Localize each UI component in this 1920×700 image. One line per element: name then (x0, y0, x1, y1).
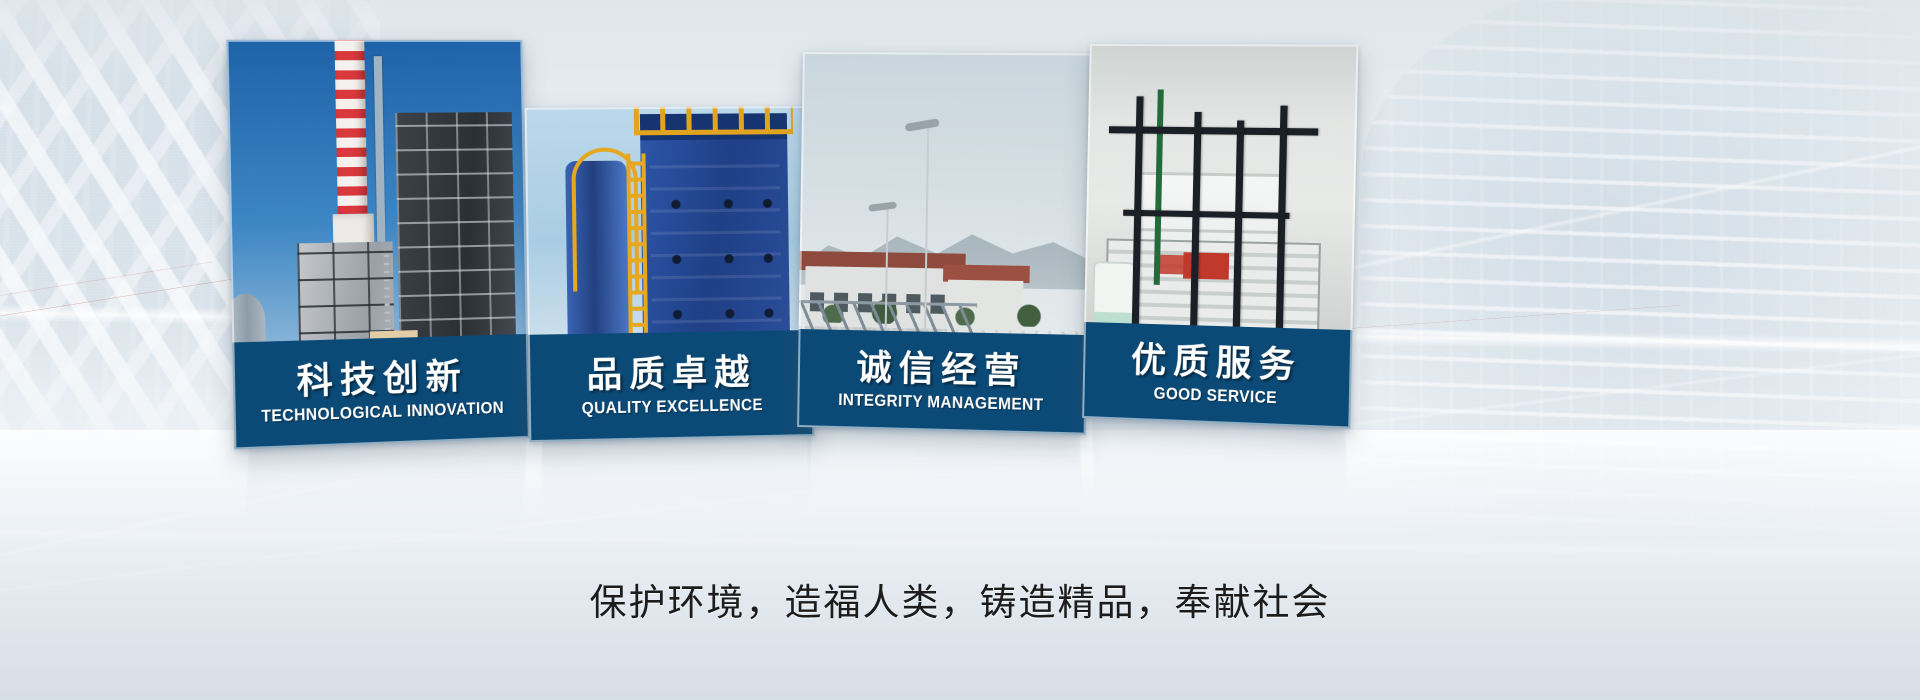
card-caption-2: 品质卓越 QUALITY EXCELLENCE (528, 330, 814, 442)
card-title-en-1: TECHNOLOGICAL INNOVATION (261, 399, 504, 427)
card-title-cn-2: 品质卓越 (586, 353, 756, 396)
value-card-technological-innovation[interactable]: 科技创新 TECHNOLOGICAL INNOVATION (226, 40, 529, 450)
value-card-quality-excellence[interactable]: 品质卓越 QUALITY EXCELLENCE (525, 106, 815, 442)
card-caption-1: 科技创新 TECHNOLOGICAL INNOVATION (232, 334, 530, 450)
card-title-cn-4: 优质服务 (1131, 340, 1303, 385)
value-card-good-service[interactable]: 优质服务 GOOD SERVICE (1082, 44, 1358, 429)
card-title-en-2: QUALITY EXCELLENCE (581, 396, 762, 419)
company-values-banner: 科技创新 TECHNOLOGICAL INNOVATION (0, 0, 1920, 700)
card-caption-4: 优质服务 GOOD SERVICE (1082, 322, 1352, 429)
banner-tagline: 保护环境，造福人类，铸造精品，奉献社会 (0, 572, 1920, 626)
card-title-cn-1: 科技创新 (296, 357, 468, 402)
card-title-en-4: GOOD SERVICE (1154, 385, 1278, 409)
card-caption-3: 诚信经营 INTEGRITY MANAGEMENT (797, 329, 1087, 435)
value-card-integrity-management[interactable]: 诚信经营 INTEGRITY MANAGEMENT (797, 52, 1092, 435)
card-title-en-3: INTEGRITY MANAGEMENT (838, 391, 1044, 415)
card-title-cn-3: 诚信经营 (856, 348, 1027, 391)
